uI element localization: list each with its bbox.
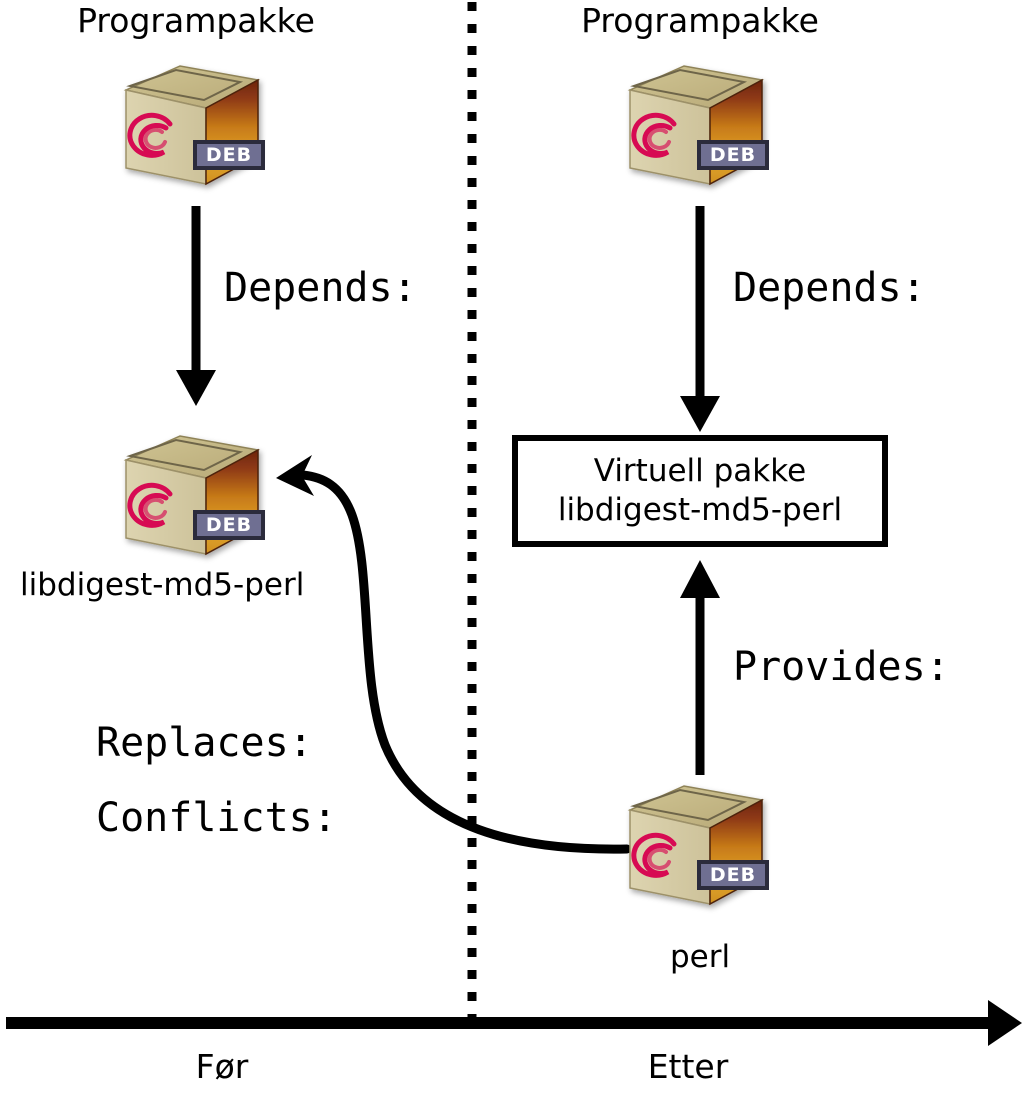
package-icon-top-left: DEB bbox=[118, 52, 268, 197]
caption-perl: perl bbox=[670, 942, 730, 973]
virtual-package-name: libdigest-md5-perl bbox=[558, 491, 842, 530]
package-icon-libdigest-md5-perl: DEB bbox=[118, 422, 268, 567]
package-icon-perl: DEB bbox=[622, 772, 772, 917]
timeline-label-before: Før bbox=[196, 1050, 249, 1083]
deb-badge: DEB bbox=[193, 140, 265, 170]
timeline-axis bbox=[6, 1000, 1022, 1046]
deb-badge-label: DEB bbox=[206, 144, 252, 166]
relation-conflicts: Conflicts: bbox=[96, 798, 337, 838]
deb-badge-label: DEB bbox=[710, 864, 756, 886]
timeline-label-after: Etter bbox=[648, 1050, 729, 1083]
debian-package-icon bbox=[622, 52, 772, 197]
deb-badge: DEB bbox=[697, 140, 769, 170]
deb-badge: DEB bbox=[697, 860, 769, 890]
relation-depends-left: Depends: bbox=[224, 268, 417, 308]
heading-left-programpakke: Programpakke bbox=[77, 4, 315, 37]
debian-package-icon bbox=[118, 422, 268, 567]
relation-depends-right: Depends: bbox=[733, 268, 926, 308]
debian-package-icon bbox=[622, 772, 772, 917]
deb-badge-label: DEB bbox=[710, 144, 756, 166]
provides-arrow bbox=[680, 560, 720, 775]
diagram-canvas: DEB DEB bbox=[0, 0, 1024, 1094]
deb-badge: DEB bbox=[193, 510, 265, 540]
relation-replaces: Replaces: bbox=[96, 723, 313, 763]
heading-right-programpakke: Programpakke bbox=[581, 4, 819, 37]
relation-provides: Provides: bbox=[733, 647, 950, 687]
deb-badge-label: DEB bbox=[206, 514, 252, 536]
virtual-package-title: Virtuell pakke bbox=[594, 452, 806, 491]
depends-arrow-right bbox=[680, 206, 720, 432]
debian-package-icon bbox=[118, 52, 268, 197]
package-icon-top-right: DEB bbox=[622, 52, 772, 197]
depends-arrow-left bbox=[176, 206, 216, 406]
caption-libdigest-md5-perl: libdigest-md5-perl bbox=[20, 570, 304, 601]
virtual-package-box: Virtuell pakke libdigest-md5-perl bbox=[512, 435, 888, 547]
